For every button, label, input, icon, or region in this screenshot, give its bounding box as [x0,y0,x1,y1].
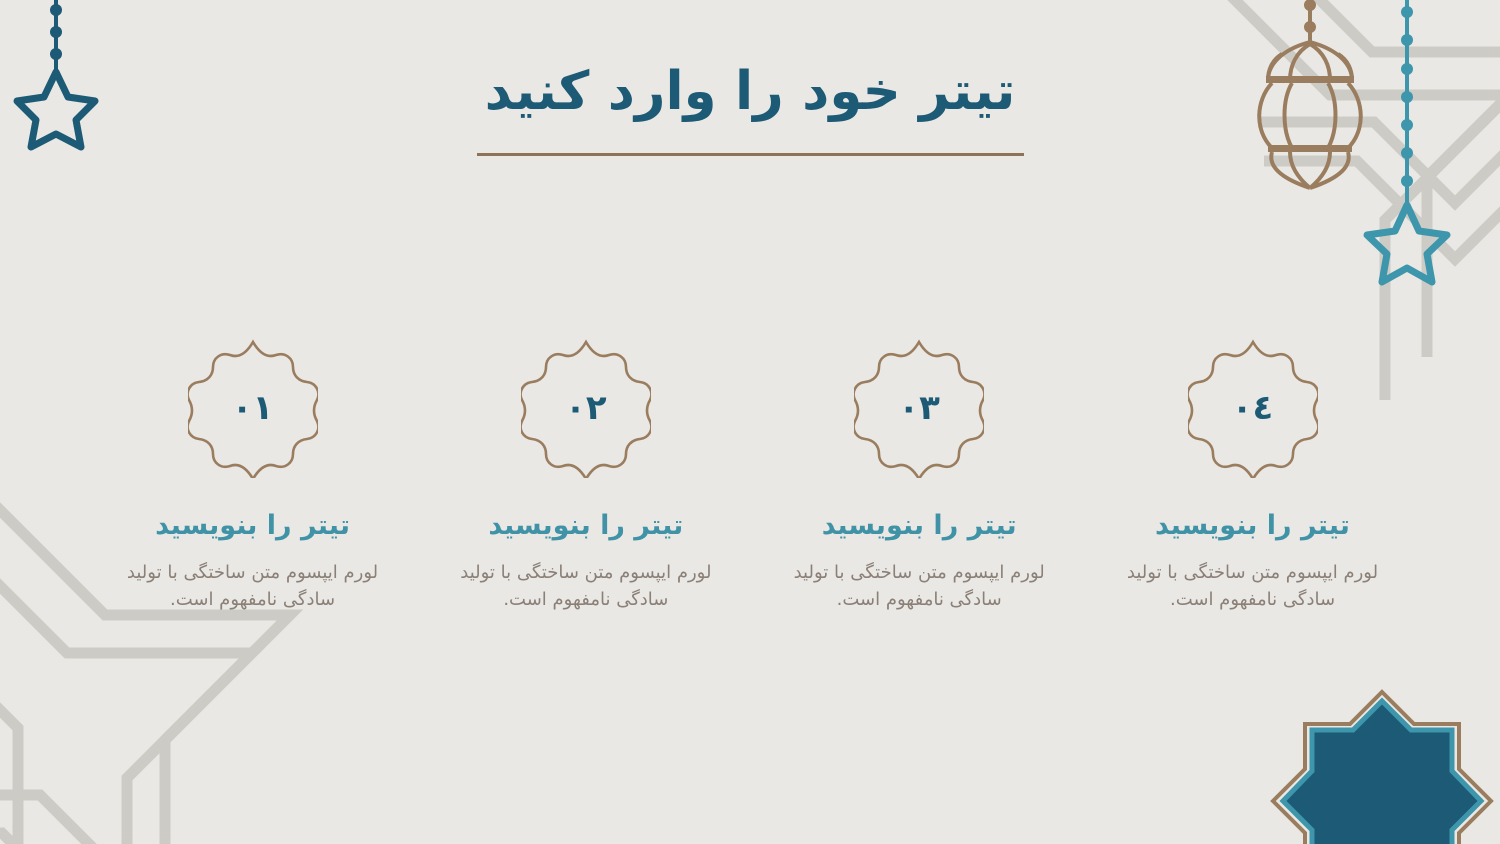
content-column-4: ٠٤ تیتر را بنویسید لورم ایپسوم متن ساختگ… [1110,338,1395,613]
column-title-3: تیتر را بنویسید [822,510,1017,542]
badge-number-label: ٠١ [232,391,274,425]
content-column-2: ٠٢ تیتر را بنویسید لورم ایپسوم متن ساختگ… [443,338,728,613]
number-badge-1: ٠١ [188,338,318,478]
column-body-4: لورم ایپسوم متن ساختگی با تولید سادگی نا… [1118,559,1388,613]
number-badge-3: ٠٣ [854,338,984,478]
content-column-3: ٠٣ تیتر را بنویسید لورم ایپسوم متن ساختگ… [777,338,1062,613]
eight-point-star-icon [1273,692,1491,844]
title-block: تیتر خود را وارد کنید [0,62,1500,156]
column-title-2: تیتر را بنویسید [488,510,683,542]
page-title: تیتر خود را وارد کنید [0,62,1500,123]
column-body-1: لورم ایپسوم متن ساختگی با تولید سادگی نا… [118,559,388,613]
title-divider [477,153,1024,156]
number-badge-4: ٠٤ [1188,338,1318,478]
column-title-1: تیتر را بنویسید [155,510,350,542]
badge-number-label: ٠٢ [565,391,607,425]
slide-canvas: تیتر خود را وارد کنید ٠١ تیتر را بنویسید… [0,0,1500,844]
content-column-1: ٠١ تیتر را بنویسید لورم ایپسوم متن ساختگ… [110,338,395,613]
column-title-4: تیتر را بنویسید [1155,510,1350,542]
content-columns: ٠١ تیتر را بنویسید لورم ایپسوم متن ساختگ… [110,338,1395,613]
column-body-3: لورم ایپسوم متن ساختگی با تولید سادگی نا… [784,559,1054,613]
column-body-2: لورم ایپسوم متن ساختگی با تولید سادگی نا… [451,559,721,613]
badge-number-label: ٠٤ [1232,391,1274,425]
badge-number-label: ٠٣ [898,391,940,425]
number-badge-2: ٠٢ [521,338,651,478]
chevron-star-outline-bottom-left-2 [0,620,18,844]
